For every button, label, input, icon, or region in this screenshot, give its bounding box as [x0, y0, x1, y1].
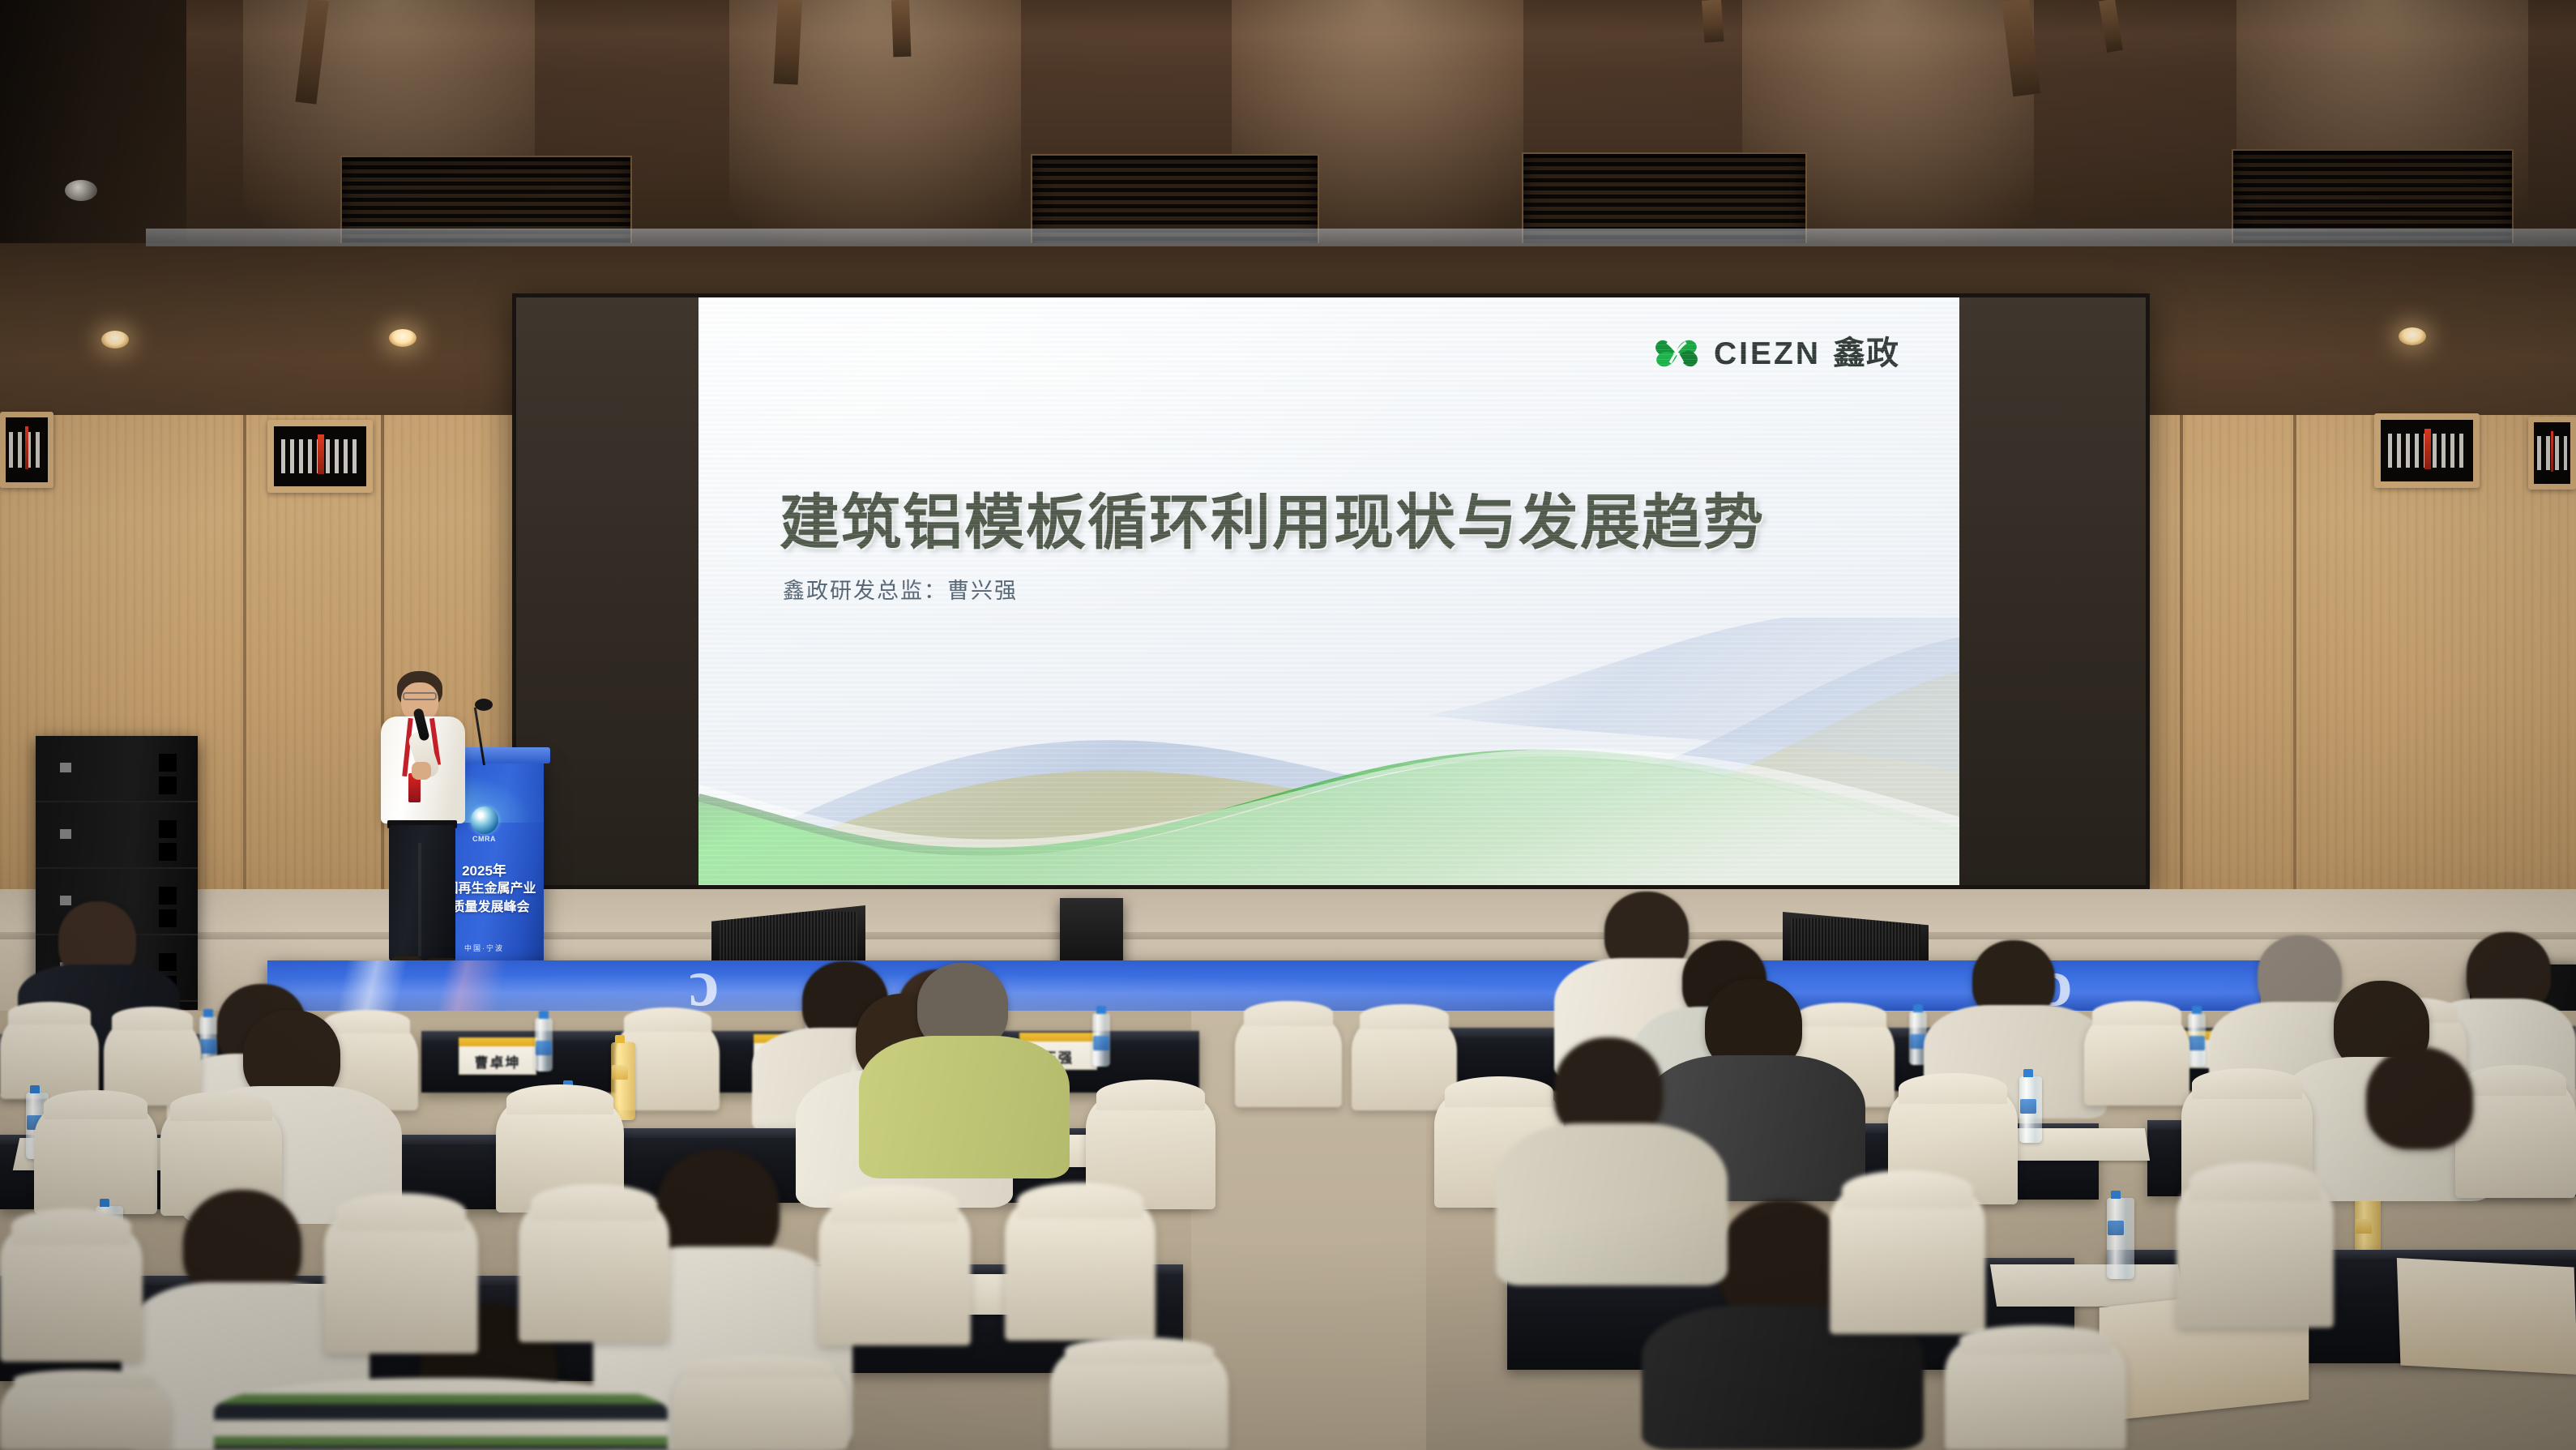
logo-latin-text: CIEZN	[1714, 338, 1821, 370]
cmra-logo: CMRA	[468, 806, 501, 839]
chair	[1830, 1187, 1985, 1334]
slide-wave-graphic	[698, 618, 1959, 885]
chair	[2455, 1078, 2576, 1198]
led-panel-right-dark	[1959, 297, 2146, 885]
chair	[2177, 1178, 2334, 1328]
cmra-ring-icon	[471, 806, 498, 834]
audience-torso	[1496, 1123, 1728, 1285]
presentation-slide: CIEZN 鑫政 建筑铝模板循环利用现状与发展趋势 鑫政研发总监：曹兴强	[698, 297, 1959, 885]
ceiling-light-cove	[146, 229, 2576, 246]
logo-chinese-text: 鑫政	[1833, 337, 1899, 370]
notepad	[1990, 1264, 2185, 1307]
wall-niche-left-2	[267, 420, 373, 493]
water-bottle	[2188, 1013, 2206, 1067]
led-video-wall: CIEZN 鑫政 建筑铝模板循环利用现状与发展趋势 鑫政研发总监：曹兴强	[512, 293, 2150, 889]
water-bottle	[1092, 1013, 1110, 1067]
ceiling-dark-panel	[0, 0, 186, 243]
chair	[1235, 1012, 1342, 1107]
ceiling	[0, 0, 2576, 243]
chair	[34, 1102, 157, 1214]
wall-niche-right	[2374, 413, 2480, 488]
wall-niche-right-2	[2528, 417, 2576, 490]
audience-torso	[859, 1036, 1070, 1178]
chair	[1945, 1337, 2126, 1450]
ceiling-camera-dome	[65, 180, 97, 201]
name-card-text: 曹卓坤	[475, 1051, 521, 1074]
conference-hall-photo: CIEZN 鑫政 建筑铝模板循环利用现状与发展趋势 鑫政研发总监：曹兴强	[0, 0, 2576, 1450]
audience-head	[2366, 1047, 2473, 1149]
wall-niche-left	[0, 412, 53, 488]
chair	[673, 1365, 848, 1450]
slide-subtitle: 鑫政研发总监：曹兴强	[783, 573, 1018, 605]
downlight-1	[101, 331, 129, 349]
chair	[818, 1201, 971, 1345]
chair	[1005, 1198, 1156, 1341]
downlight-9	[2399, 327, 2426, 345]
water-bottle	[2107, 1198, 2134, 1279]
chair	[0, 1378, 170, 1450]
chair	[1352, 1015, 1457, 1110]
chair	[0, 1012, 99, 1099]
slide-title: 建筑铝模板循环利用现状与发展趋势	[780, 474, 1765, 561]
ciezn-leaf-icon	[1651, 328, 1702, 379]
audience-torso-stripes	[214, 1378, 668, 1450]
water-bottle	[2019, 1076, 2042, 1143]
chair	[2084, 1012, 2189, 1106]
slide-logo: CIEZN 鑫政	[1651, 328, 1899, 379]
chair	[519, 1200, 669, 1342]
chair	[1050, 1349, 1228, 1450]
microphone-head-icon	[475, 699, 493, 711]
presenter	[374, 671, 472, 983]
downlight-2	[389, 329, 417, 347]
water-bottle	[535, 1018, 553, 1071]
chair	[0, 1224, 143, 1362]
conference-booklet	[2397, 1258, 2576, 1375]
name-card: 曹卓坤	[459, 1046, 536, 1075]
cmra-label: CMRA	[468, 835, 501, 843]
chair	[324, 1209, 478, 1354]
